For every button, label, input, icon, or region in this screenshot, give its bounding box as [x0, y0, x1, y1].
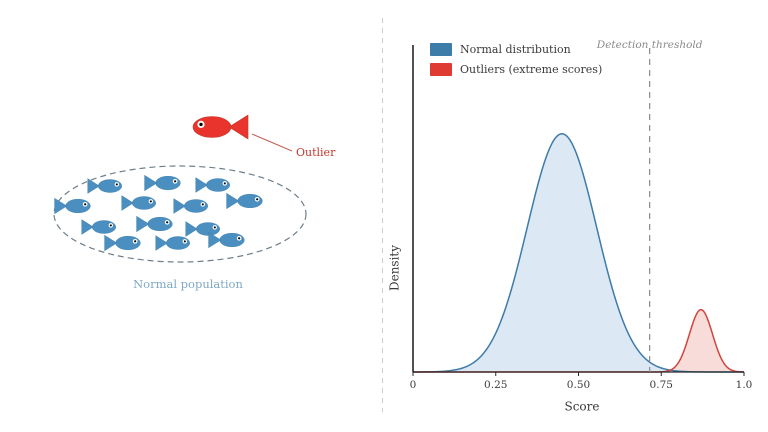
detection-threshold-label: Detection threshold — [596, 39, 703, 51]
fish-pupil — [256, 198, 258, 200]
x-tick-label: 0.75 — [650, 379, 673, 391]
outlier-fish-shape — [193, 115, 248, 139]
outlier-label: Outlier — [296, 146, 336, 159]
fish-tail — [174, 199, 186, 214]
fish-tail — [196, 178, 208, 193]
fish-tail — [82, 220, 94, 235]
population-fish — [186, 222, 220, 237]
legend-label-outliers: Outliers (extreme scores) — [460, 63, 602, 76]
fish-pupil — [214, 226, 216, 228]
fish-tail — [186, 222, 198, 237]
legend-swatch-outliers — [430, 63, 452, 76]
fish-pupil — [166, 221, 168, 223]
fish-tail — [137, 216, 149, 232]
legend-label-normal-distribution: Normal distribution — [460, 43, 571, 56]
density-chart-svg: 00.250.500.751.0 Detection threshold Sco… — [382, 0, 768, 432]
fish-pupil — [202, 203, 204, 205]
fish-pupil — [110, 224, 112, 226]
fish-illustration-svg: Outlier Normal population — [0, 0, 382, 432]
fish-pupil — [238, 237, 240, 239]
fish-pupil — [134, 240, 136, 242]
population-fish — [88, 179, 122, 194]
fish-illustration-panel: Outlier Normal population — [0, 0, 382, 432]
x-axis-label: Score — [564, 400, 599, 414]
outlier-detection-figure: Outlier Normal population 00.250.500.751… — [0, 0, 768, 432]
fish-pupil — [116, 183, 118, 185]
fish-tail — [122, 196, 134, 211]
y-axis-label: Density — [388, 245, 402, 291]
fish-tail — [156, 236, 168, 251]
fish-tail — [227, 193, 239, 209]
normal-population-school — [55, 175, 263, 251]
outlier-fish — [193, 115, 248, 139]
legend-swatch-normal-distribution — [430, 43, 452, 56]
population-fish — [196, 178, 230, 193]
fish-tail — [105, 235, 117, 251]
normal-population-label: Normal population — [133, 277, 243, 291]
population-fish — [156, 236, 190, 251]
x-tick-label: 0.50 — [567, 379, 590, 391]
density-chart-panel: 00.250.500.751.0 Detection threshold Sco… — [382, 0, 768, 432]
x-tick-label: 0 — [410, 379, 417, 391]
fish-pupil — [84, 203, 86, 205]
chart-legend: Normal distribution Outliers (extreme sc… — [430, 43, 602, 76]
population-fish — [145, 175, 181, 191]
fish-pupil — [199, 123, 202, 126]
population-fish — [174, 199, 208, 214]
population-fish — [105, 235, 141, 251]
x-axis-ticks: 00.250.500.751.0 — [410, 372, 753, 391]
fish-tail — [88, 179, 100, 194]
population-fish — [122, 196, 156, 211]
outlier-leader-line — [252, 134, 292, 151]
x-tick-label: 0.25 — [484, 379, 507, 391]
x-tick-label: 1.0 — [736, 379, 753, 391]
fish-pupil — [150, 200, 152, 202]
fish-tail — [229, 115, 248, 139]
population-fish — [82, 220, 116, 235]
fish-tail — [145, 175, 157, 191]
population-fish — [137, 216, 173, 232]
fish-tail — [55, 198, 67, 214]
population-fish — [227, 193, 263, 209]
fish-pupil — [224, 182, 226, 184]
fish-pupil — [184, 240, 186, 242]
fish-pupil — [174, 180, 176, 182]
population-fish — [55, 198, 91, 214]
